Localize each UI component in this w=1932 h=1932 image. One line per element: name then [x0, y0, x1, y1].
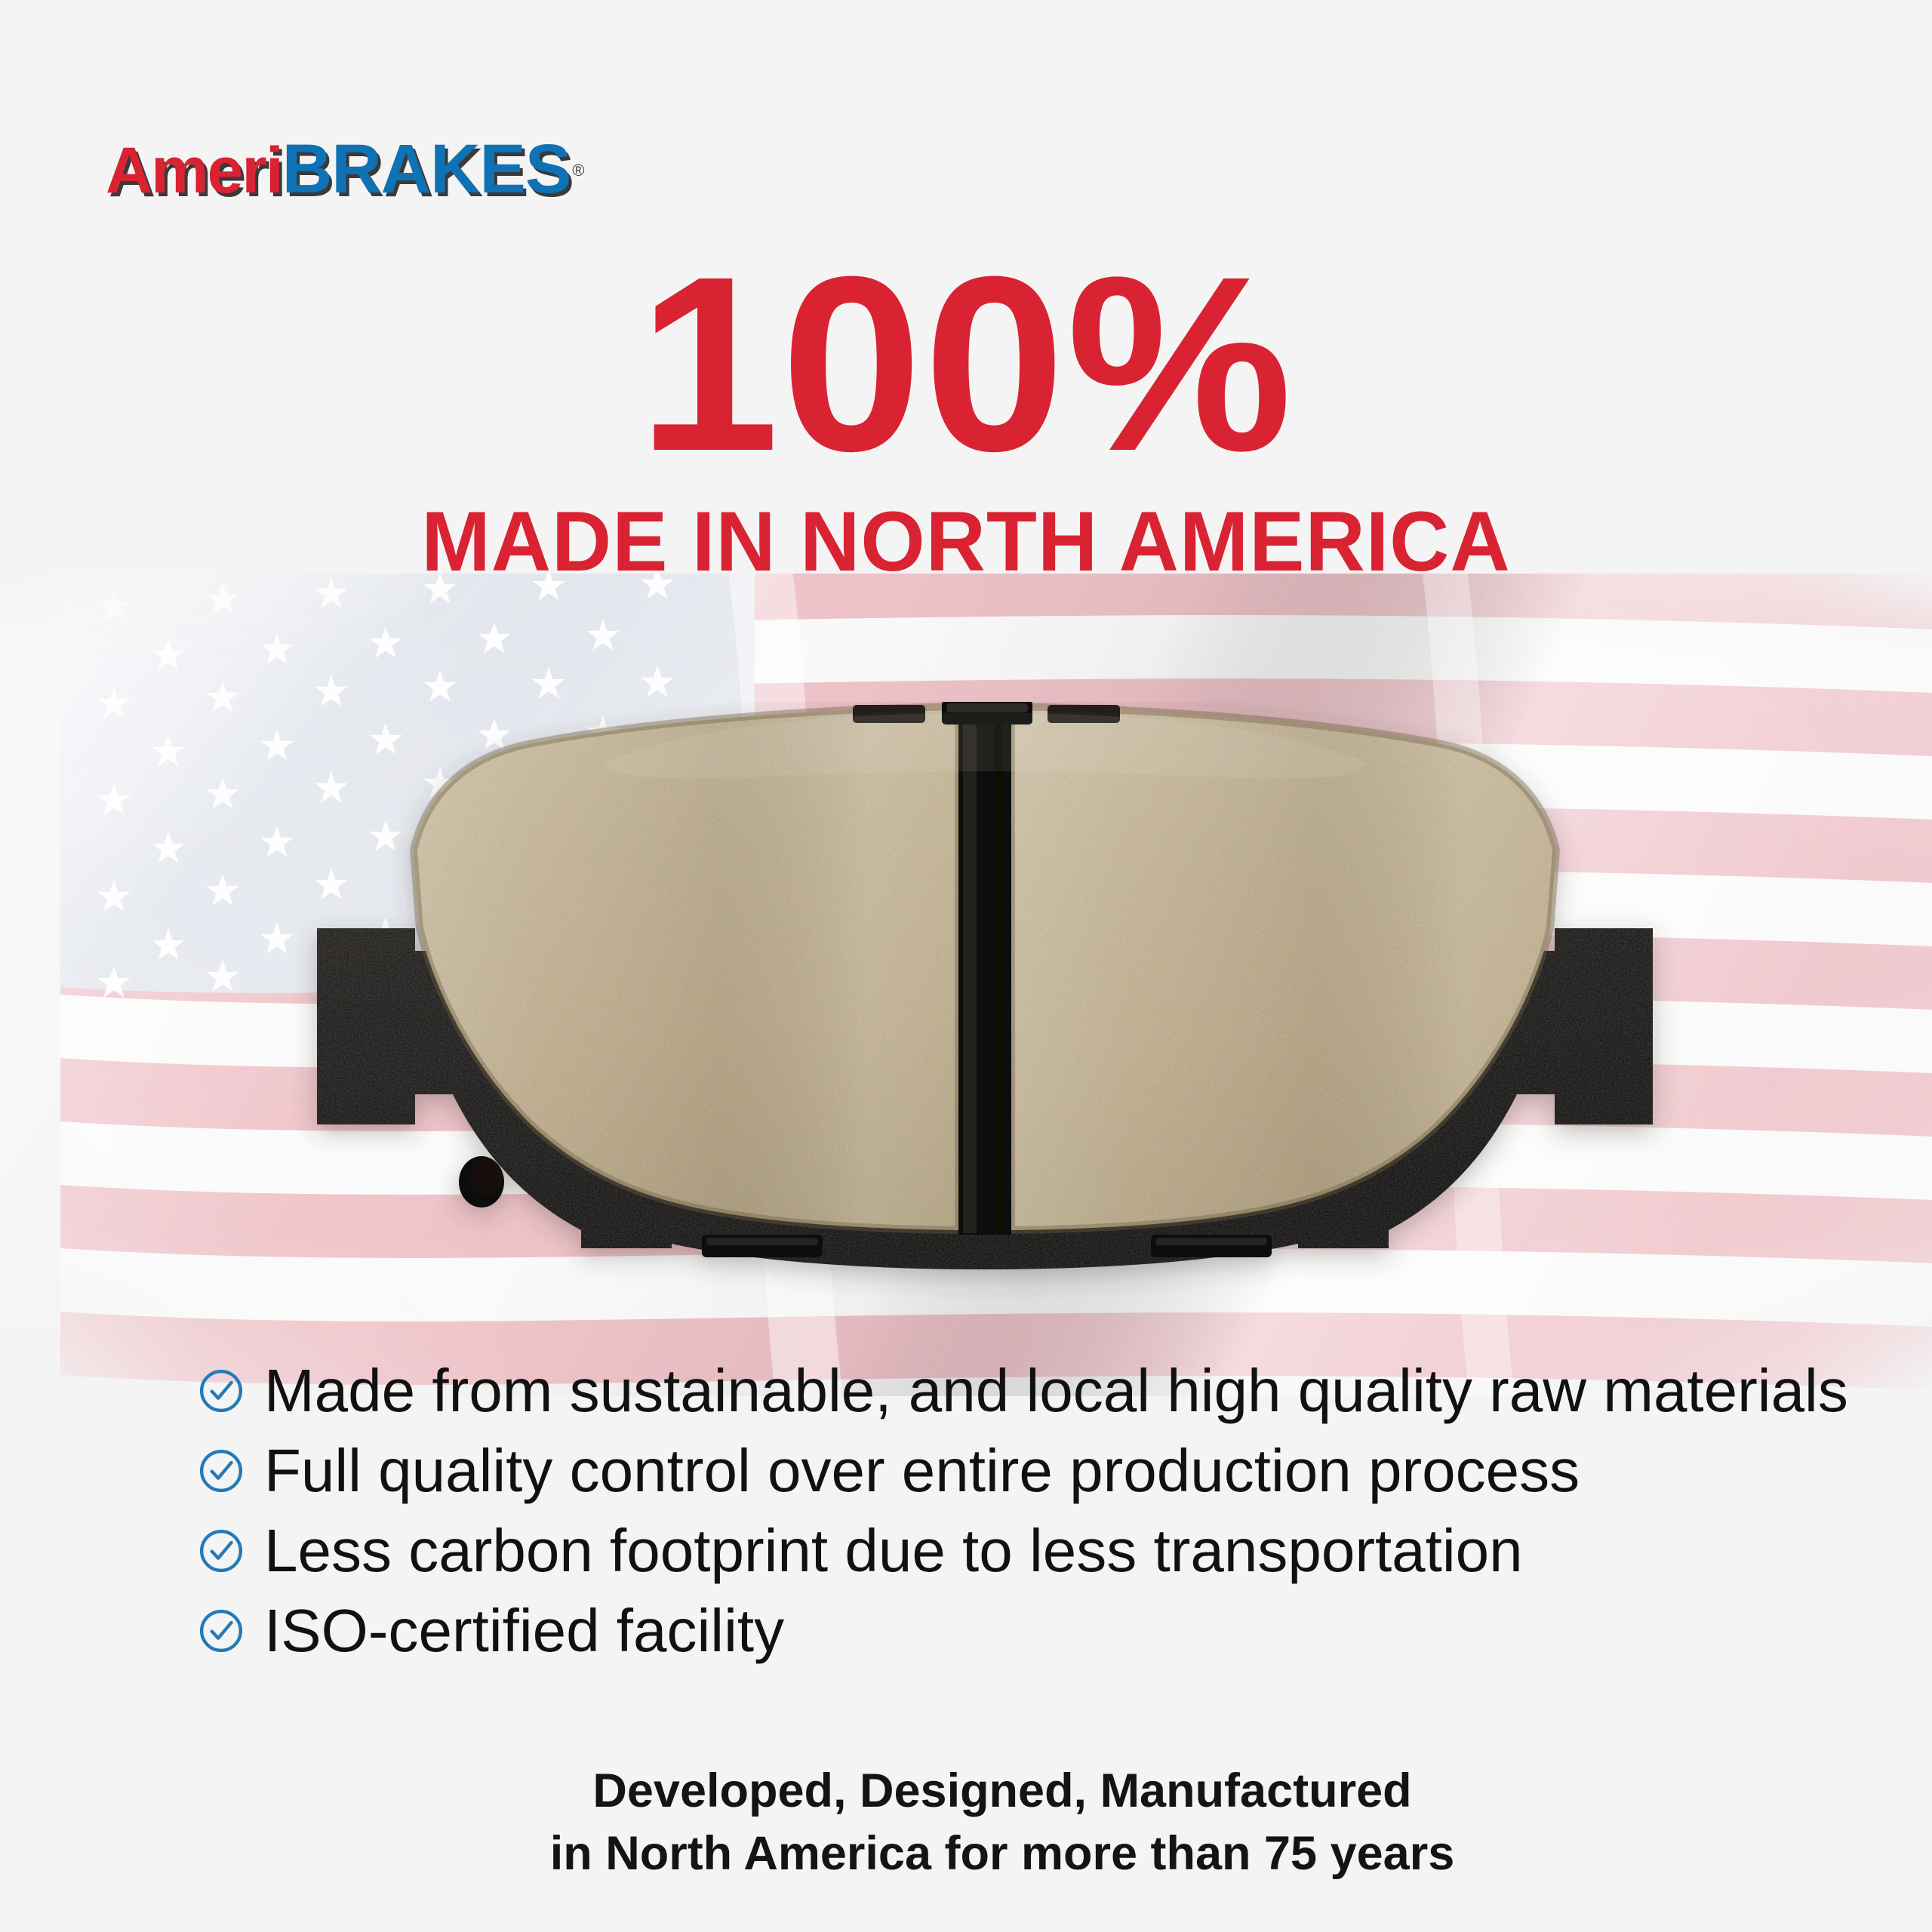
footer-block: Developed, Designed, Manufactured in Nor…	[36, 1760, 1932, 1885]
feature-label: Less carbon footprint due to less transp…	[264, 1521, 1523, 1581]
check-circle-icon	[198, 1607, 245, 1654]
list-item: Full quality control over entire product…	[198, 1431, 1783, 1511]
feature-list: Made from sustainable, and local high qu…	[198, 1351, 1783, 1671]
check-circle-icon	[198, 1367, 245, 1414]
footer-line-1: Developed, Designed, Manufactured	[36, 1760, 1932, 1823]
feature-label: Made from sustainable, and local high qu…	[264, 1361, 1848, 1421]
check-circle-icon	[198, 1447, 245, 1494]
registered-trademark-icon: ®	[572, 162, 584, 179]
brand-logo[interactable]: AmeriBRAKES®	[106, 134, 584, 204]
feature-label: Full quality control over entire product…	[264, 1441, 1580, 1501]
check-circle-icon	[198, 1527, 245, 1574]
marketing-banner: AmeriBRAKES® 100% MADE IN NORTH AMERICA	[0, 0, 1932, 1932]
feature-label: ISO-certified facility	[264, 1601, 784, 1661]
percent-headline: 100%	[0, 249, 1932, 478]
logo-text-ameri: Ameri	[106, 138, 282, 203]
headline-block: 100% MADE IN NORTH AMERICA	[0, 249, 1932, 584]
footer-line-2: in North America for more than 75 years	[36, 1823, 1932, 1885]
list-item: Made from sustainable, and local high qu…	[198, 1351, 1783, 1431]
made-in-north-america-subtitle: MADE IN NORTH AMERICA	[20, 500, 1913, 584]
list-item: Less carbon footprint due to less transp…	[198, 1511, 1783, 1591]
list-item: ISO-certified facility	[198, 1591, 1783, 1671]
logo-text-brakes: BRAKES	[282, 134, 571, 204]
brake-pad-product-image	[279, 702, 1690, 1298]
